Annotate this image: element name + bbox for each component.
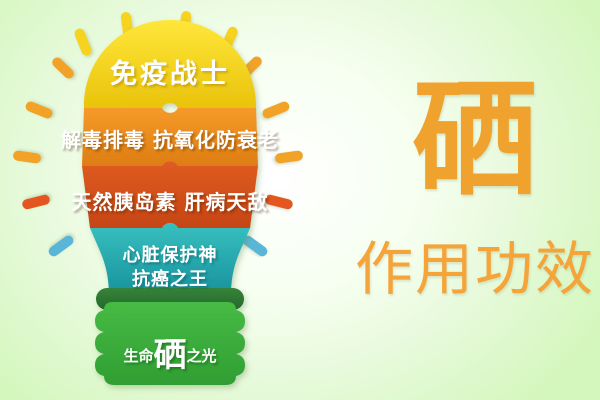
headline-main-character: 硒 [350, 78, 600, 203]
poster-canvas: 免疫战士 解毒排毒 抗氧化防衰老 天然胰岛素 肝病天敌 心脏保护神 抗癌之王 生… [0, 0, 600, 400]
headline-group: 硒 作用功效 [350, 0, 600, 400]
headline-subtitle: 作用功效 [350, 238, 600, 300]
